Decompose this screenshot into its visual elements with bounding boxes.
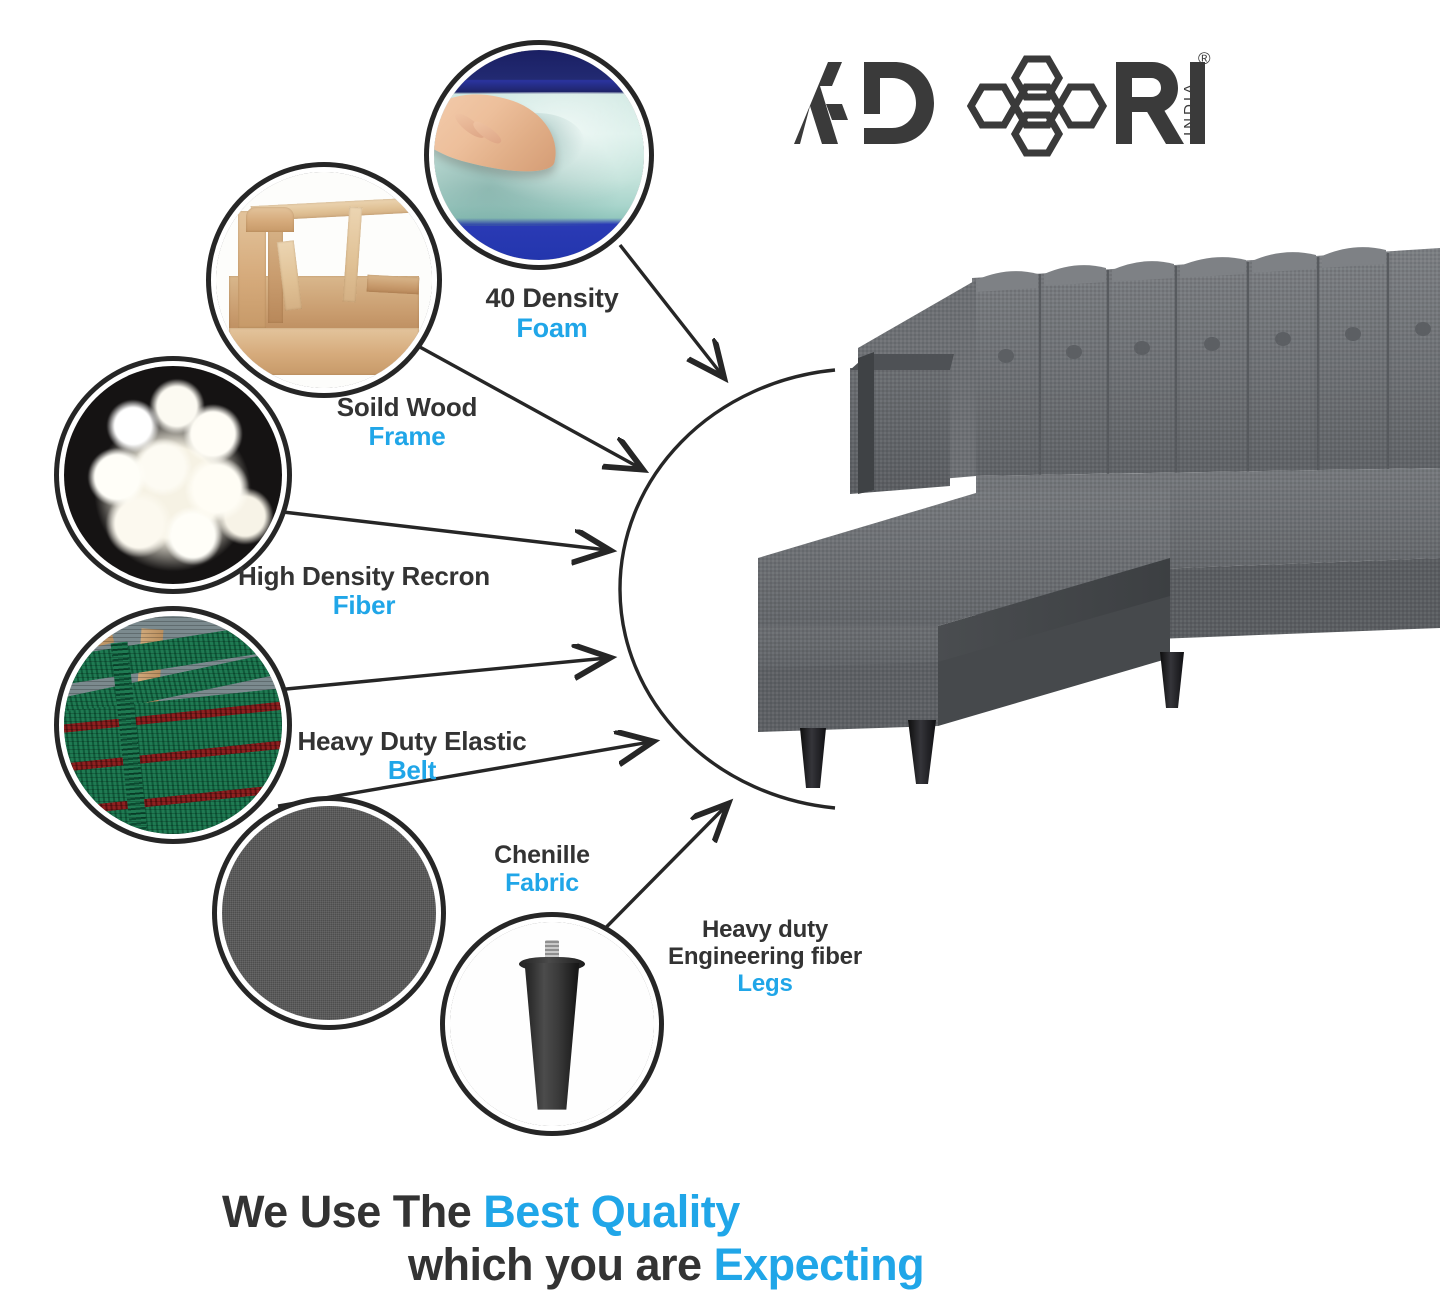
tagline-block: We Use The Best Quality which you are Ex…: [0, 1186, 1445, 1296]
logo-india-text: INDIA: [1181, 81, 1198, 136]
label-chenille-fabric: Chenille Fabric: [478, 841, 606, 897]
feature-image-sofa-leg: [450, 922, 654, 1126]
feature-image-recron-fiber: [64, 366, 282, 584]
sofa-backrest: [972, 247, 1440, 476]
feature-image-wood-frame: [216, 172, 432, 388]
feature-image-elastic-belt: [64, 616, 282, 834]
arrow-belt: [276, 658, 607, 690]
sofa-chaise-seat: [758, 490, 1170, 732]
label-foam-line1: 40 Density: [485, 283, 618, 313]
label-fiber-line2: Fiber: [219, 591, 509, 620]
label-foam-line2: Foam: [472, 313, 632, 343]
feature-image-chenille-fabric: [222, 806, 436, 1020]
label-recron-fiber: High Density Recron Fiber: [219, 562, 509, 620]
feature-image-foam: [434, 50, 644, 260]
label-fabric-line1: Chenille: [494, 841, 590, 869]
tagline-2-highlight: Expecting: [714, 1239, 925, 1290]
product-sofa-image: [740, 228, 1445, 788]
logo-registered-mark: ®: [1198, 49, 1211, 68]
tagline-line-2: which you are Expecting: [408, 1239, 924, 1291]
infographic-canvas: INDIA ®: [0, 0, 1445, 1314]
label-wood-line2: Frame: [321, 422, 493, 451]
brand-logo: INDIA ®: [786, 44, 1216, 160]
label-foam: 40 Density Foam: [472, 283, 632, 343]
arrow-foam: [620, 245, 722, 375]
label-belt-line1: Heavy Duty Elastic: [297, 726, 526, 756]
tagline-1-highlight: Best Quality: [483, 1186, 740, 1237]
label-wood-line1: Soild Wood: [337, 392, 478, 422]
label-fabric-line2: Fabric: [478, 869, 606, 897]
label-fiber-line1: High Density Recron: [238, 561, 490, 591]
label-belt-line2: Belt: [277, 756, 547, 785]
label-legs-line1b: Engineering fiber: [651, 944, 879, 971]
sofa-armrest: [850, 352, 954, 494]
label-legs-line2: Legs: [651, 971, 879, 998]
tagline-2-plain: which you are: [408, 1239, 714, 1290]
tagline-line-1: We Use The Best Quality: [222, 1186, 740, 1238]
label-wood-frame: Soild Wood Frame: [321, 393, 493, 451]
label-elastic-belt: Heavy Duty Elastic Belt: [277, 727, 547, 785]
label-legs: Heavy duty Engineering fiber Legs: [651, 917, 879, 998]
tagline-1-plain: We Use The: [222, 1186, 483, 1237]
label-legs-line1: Heavy duty: [702, 916, 828, 943]
arrow-fiber: [266, 510, 607, 550]
